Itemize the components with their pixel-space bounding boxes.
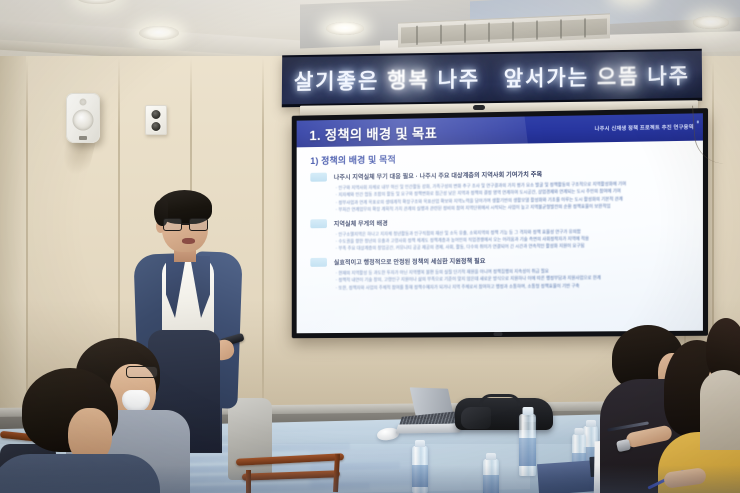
slide-subtitle: 1) 정책의 배경 및 목적	[310, 148, 691, 167]
speaker-brand-badge	[79, 136, 87, 140]
laptop[interactable]	[395, 423, 462, 433]
slide-block-heading: 실효적이고 행정적으로 안정된 정책의 세심한 지원정책 필요	[334, 256, 486, 267]
slide-title: 1. 정책의 배경 및 목표	[309, 122, 437, 144]
slide-block: 실효적이고 행정적으로 안정된 정책의 세심한 지원정책 필요 현재의 지역활성…	[310, 254, 691, 292]
presenter-mouth	[182, 238, 195, 244]
display-ir-sensor-icon	[493, 332, 502, 336]
slide-body: 1) 정책의 배경 및 목적 나주시 지역실체 무기 대응 필요 · 나주시 주…	[297, 141, 703, 334]
slide-block-badge	[310, 219, 327, 228]
slide-corner-label: 나주시 신재생 정책 프로젝트 추진 연구용역	[595, 124, 694, 133]
wall-speaker	[66, 93, 100, 143]
bag-flap	[461, 407, 491, 429]
slide-block-heading: 지역실체 무게의 배경	[334, 218, 388, 228]
slide-block: 지역실체 무게의 배경 인구소멸지역은 하나고 지자체 청년활동과 인구직접의 …	[310, 214, 691, 253]
presentation-display[interactable]: 1. 정책의 배경 및 목표 나주시 신재생 정책 프로젝트 추진 연구용역 1…	[292, 108, 708, 338]
ceiling-downlight	[693, 16, 729, 29]
slide-block: 나주시 지역실체 무기 대응 필요 · 나주시 주요 대상계층의 지역사회 기여…	[310, 167, 691, 214]
slide-block-heading: 나주시 지역실체 무기 대응 필요 · 나주시 주요 대상계층의 지역사회 기여…	[334, 169, 542, 181]
speaker-woofer-icon	[73, 110, 94, 131]
glasses-icon	[163, 218, 209, 231]
webcam-icon	[473, 105, 485, 110]
speaker-tweeter-icon	[80, 99, 87, 106]
conference-room-photo: 살기좋은 행복 나주 앞서가는 으뜸 나주 1. 정책의 배경 및 목표 나주시…	[0, 0, 740, 493]
black-bag	[455, 398, 553, 430]
foreground-shading	[0, 465, 740, 493]
slide-block-badge	[310, 173, 327, 182]
ceiling-downlight	[139, 26, 179, 40]
led-marquee-sign: 살기좋은 행복 나주 앞서가는 으뜸 나주	[282, 49, 702, 108]
ceiling-downlight	[76, 0, 118, 4]
marquee-sign-text: 살기좋은 행복 나주 앞서가는 으뜸 나주	[282, 60, 702, 97]
slide-block-badge	[310, 258, 327, 267]
attendee-torso	[700, 370, 740, 450]
av-jack-icon	[151, 121, 162, 132]
av-wall-plate	[145, 105, 167, 135]
av-jack-icon	[151, 109, 162, 120]
ceiling-downlight	[326, 22, 364, 35]
slide-screen: 1. 정책의 배경 및 목표 나주시 신재생 정책 프로젝트 추진 연구용역 1…	[297, 113, 703, 333]
attendee-far-right	[700, 318, 740, 438]
bag-handle	[479, 394, 521, 406]
